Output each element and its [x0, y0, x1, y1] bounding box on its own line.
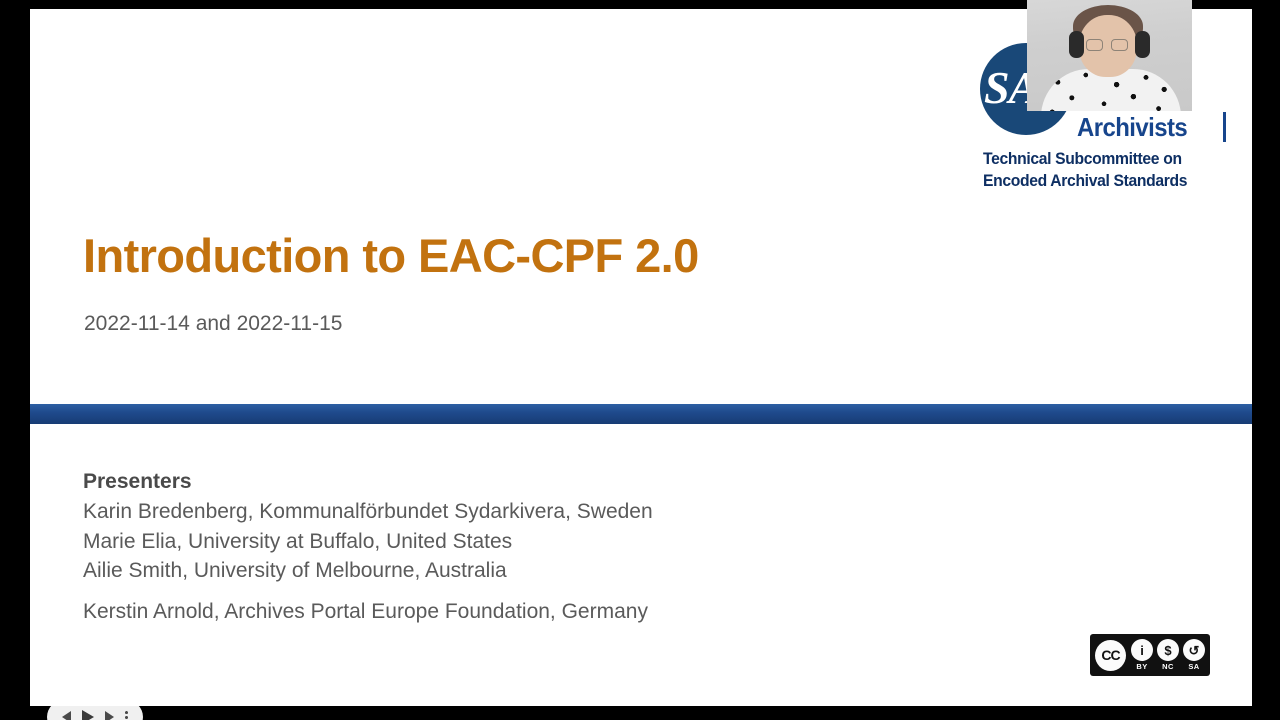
presenters-block: Presenters Karin Bredenberg, Kommunalför…: [83, 467, 983, 627]
next-icon[interactable]: [105, 711, 114, 720]
play-icon[interactable]: [82, 710, 94, 720]
subcommittee-line-2: Encoded Archival Standards: [983, 170, 1218, 192]
cc-by-label: BY: [1129, 662, 1155, 671]
cc-nc-label: NC: [1155, 662, 1181, 671]
presentation-slide: SAA Archivists Technical Subcommittee on…: [30, 9, 1252, 706]
archivists-wordmark: Archivists: [1077, 112, 1187, 143]
slide-date-subtitle: 2022-11-14 and 2022-11-15: [84, 312, 342, 336]
previous-icon[interactable]: [62, 711, 71, 720]
creative-commons-license-icon: CC i BY $ NC ↺ SA: [1090, 634, 1210, 676]
subcommittee-name: Technical Subcommittee on Encoded Archiv…: [983, 148, 1218, 193]
presenter-line: Marie Elia, University at Buffalo, Unite…: [83, 527, 983, 557]
presenter-line: Kerstin Arnold, Archives Portal Europe F…: [83, 597, 983, 627]
webcam-eyeglass-right: [1111, 39, 1128, 51]
blue-divider-bar: [30, 404, 1252, 424]
presenter-webcam-overlay[interactable]: [1027, 0, 1192, 111]
cc-nc-glyph: $: [1164, 644, 1171, 657]
cc-sa-label: SA: [1181, 662, 1207, 671]
slide-title: Introduction to EAC-CPF 2.0: [83, 228, 699, 283]
cc-by-glyph: i: [1140, 644, 1144, 657]
cc-terms-group: i BY $ NC ↺ SA: [1126, 639, 1207, 671]
cc-term-by-icon: i BY: [1129, 639, 1155, 671]
cc-mark-icon: CC: [1095, 640, 1126, 671]
presenter-line: Ailie Smith, University of Melbourne, Au…: [83, 556, 983, 586]
webcam-headphone-right-icon: [1135, 31, 1150, 58]
presenters-heading: Presenters: [83, 467, 983, 497]
video-player-controls[interactable]: [47, 700, 143, 720]
webcam-eyeglass-left: [1086, 39, 1103, 51]
cc-term-nc-icon: $ NC: [1155, 639, 1181, 671]
presenter-line: Karin Bredenberg, Kommunalförbundet Syda…: [83, 497, 983, 527]
cc-term-sa-icon: ↺ SA: [1181, 639, 1207, 671]
webcam-headphone-left-icon: [1069, 31, 1084, 58]
cc-sa-glyph: ↺: [1189, 644, 1200, 657]
video-player-stage[interactable]: SAA Archivists Technical Subcommittee on…: [0, 0, 1280, 720]
cc-mark-text: CC: [1101, 647, 1119, 663]
subcommittee-line-1: Technical Subcommittee on: [983, 148, 1218, 170]
more-options-icon[interactable]: [125, 711, 128, 720]
wordmark-divider-rule: [1223, 112, 1226, 142]
